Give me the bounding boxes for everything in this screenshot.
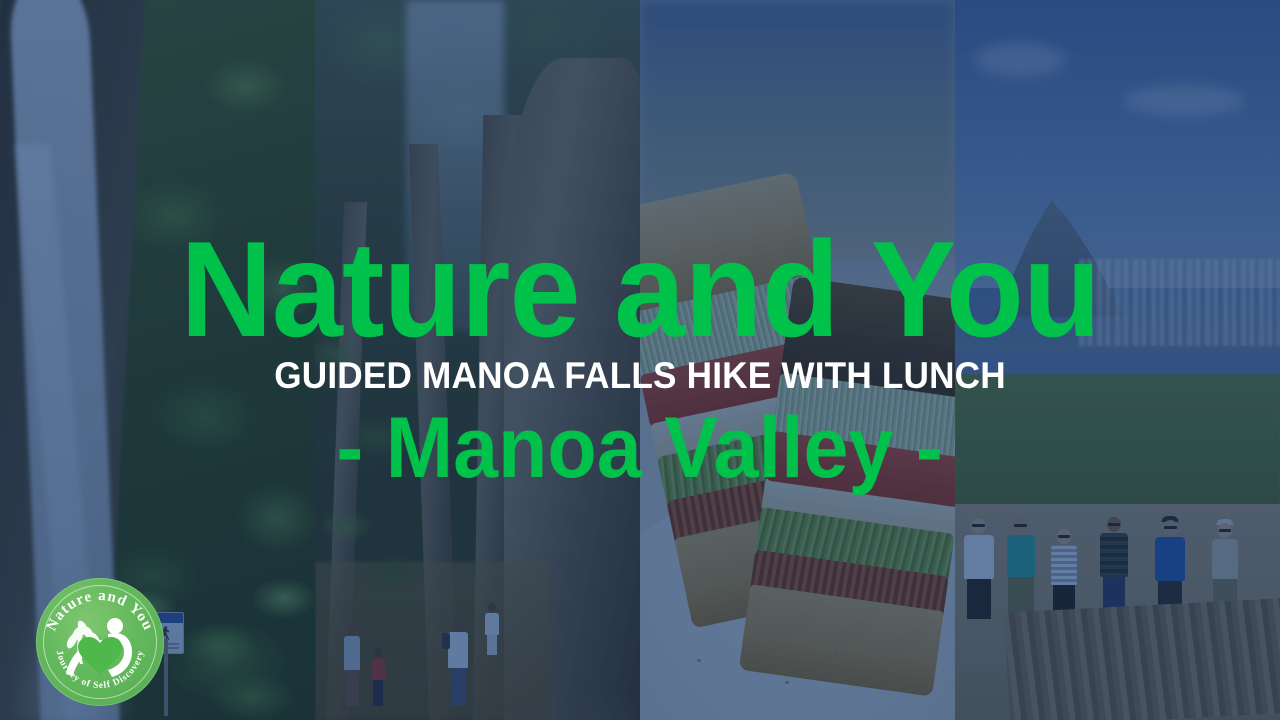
promo-banner: Nature and You GUIDED MANOA FALLS HIKE W… bbox=[0, 0, 1280, 720]
panel-forest-hikers bbox=[315, 0, 640, 720]
logo-arc-top-text: Nature and You bbox=[44, 588, 157, 634]
photo-strip bbox=[0, 0, 1280, 720]
sandwich-image bbox=[640, 0, 955, 720]
panel-sandwich-lunch bbox=[640, 0, 955, 720]
panel-group-photo bbox=[955, 0, 1280, 720]
forest-hikers-image bbox=[315, 0, 640, 720]
group-photo-image bbox=[955, 0, 1280, 720]
logo-emblem: Nature and You Journey of Self Discovery bbox=[36, 578, 164, 706]
nature-and-you-logo[interactable]: Nature and You Journey of Self Discovery bbox=[36, 578, 164, 706]
